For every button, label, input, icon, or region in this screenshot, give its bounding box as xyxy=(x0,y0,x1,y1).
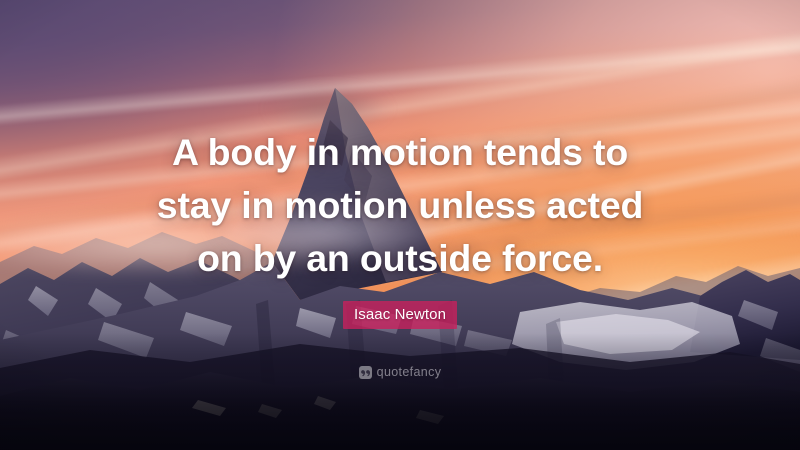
quote-line-3: on by an outside force. xyxy=(0,232,800,285)
author-attribution: Isaac Newton xyxy=(0,301,800,329)
author-badge: Isaac Newton xyxy=(343,301,457,329)
quote-line-1: A body in motion tends to xyxy=(0,126,800,179)
watermark-label: quotefancy xyxy=(377,366,442,379)
quote-text: A body in motion tends to stay in motion… xyxy=(0,126,800,285)
quote-poster: A body in motion tends to stay in motion… xyxy=(0,0,800,450)
poster-content: A body in motion tends to stay in motion… xyxy=(0,0,800,450)
watermark: quotefancy xyxy=(0,366,800,379)
quote-line-2: stay in motion unless acted xyxy=(0,179,800,232)
quote-mark-icon xyxy=(359,366,372,379)
